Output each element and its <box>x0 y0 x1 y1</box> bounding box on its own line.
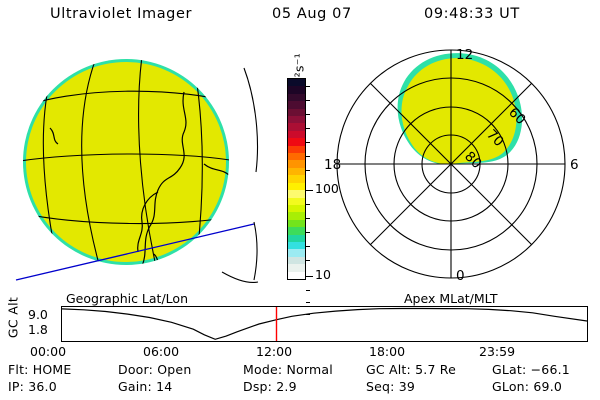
status-door: Door: Open <box>118 362 191 377</box>
strip-y-axis-label: GC Alt <box>6 291 21 345</box>
uvi-summary-page: Ultraviolet Imager 05 Aug 07 09:48:33 UT <box>0 0 600 400</box>
status-gcalt-value: 5.7 Re <box>415 362 456 377</box>
mlt-label-right: 6 <box>570 157 579 173</box>
colorbar-minor-tick-12 <box>306 290 310 291</box>
status-gain-value: 14 <box>156 379 172 394</box>
mlt-label-top: 12 <box>456 47 473 63</box>
status-dsp-label: Dsp: <box>243 379 272 394</box>
colorbar-band-26 <box>288 272 305 279</box>
colorbar-band-9 <box>288 146 305 153</box>
colorbar-band-8 <box>288 138 305 145</box>
colorbar-band-16 <box>288 198 305 205</box>
status-dsp-value: 2.9 <box>276 379 296 394</box>
colorbar-band-19 <box>288 220 305 227</box>
colorbar-band-13 <box>288 175 305 182</box>
colorbar-band-12 <box>288 168 305 175</box>
colorbar-major-tick-100 <box>306 190 313 191</box>
status-mode-value: Normal <box>286 362 332 377</box>
status-gcalt: GC Alt: 5.7 Re <box>366 362 456 377</box>
geographic-globe-plot[interactable] <box>8 44 260 292</box>
colorbar-band-18 <box>288 212 305 219</box>
dial-caption: Apex MLat/MLT <box>404 291 498 306</box>
x-tick-0: 00:00 <box>30 344 66 359</box>
status-glon-value: 69.0 <box>533 379 562 394</box>
mlt-label-left: 18 <box>324 157 341 173</box>
colorbar-band-15 <box>288 190 305 197</box>
altitude-trace-svg <box>62 307 587 341</box>
apex-dial-panel[interactable]: 12 6 0 18 60 70 80 <box>322 40 594 292</box>
colorbar-band-0 <box>288 79 305 86</box>
observation-time: 09:48:33 UT <box>424 6 520 22</box>
colorbar-minor-tick-7 <box>306 204 310 205</box>
aurora-oval <box>398 53 522 164</box>
colorbar-minor-tick-8 <box>306 218 310 219</box>
status-dsp: Dsp: 2.9 <box>243 379 297 394</box>
colorbar-band-5 <box>288 116 305 123</box>
colorbar-band-2 <box>288 94 305 101</box>
globe-caption: Geographic Lat/Lon <box>66 291 188 306</box>
observation-date: 05 Aug 07 <box>272 6 352 22</box>
x-tick-4: 23:59 <box>479 344 515 359</box>
colorbar-minor-tick-3 <box>306 128 310 129</box>
colorbar-band-20 <box>288 227 305 234</box>
colorbar-minor-tick-2 <box>306 114 310 115</box>
colorbar-band-1 <box>288 86 305 93</box>
x-tick-1: 06:00 <box>143 344 179 359</box>
colorbar-minor-tick-6 <box>306 170 310 171</box>
colorbar-band-3 <box>288 101 305 108</box>
colorbar-panel: photon cm⁻²s⁻¹ 100 10 <box>258 44 320 292</box>
x-tick-3: 18:00 <box>369 344 405 359</box>
disc-fill <box>26 62 226 262</box>
status-glat-value: −66.1 <box>531 362 570 377</box>
status-bar: Flt: HOME Door: Open Mode: Normal GC Alt… <box>0 362 600 400</box>
x-tick-2: 12:00 <box>256 344 292 359</box>
mlt-label-bottom: 0 <box>456 268 465 284</box>
colorbar-band-21 <box>288 235 305 242</box>
colorbar-band-4 <box>288 109 305 116</box>
status-seq-value: 39 <box>399 379 415 394</box>
apex-mlat-mlt-plot[interactable]: 12 6 0 18 60 70 80 <box>322 40 594 292</box>
status-mode-label: Mode: <box>243 362 282 377</box>
colorbar-band-23 <box>288 249 305 256</box>
altitude-plot-box[interactable] <box>61 306 588 342</box>
colorbar-minor-tick-1 <box>306 100 310 101</box>
status-glat: GLat: −66.1 <box>492 362 570 377</box>
colorbar-band-10 <box>288 153 305 160</box>
status-gain: Gain: 14 <box>118 379 172 394</box>
colorbar-gradient[interactable] <box>287 78 306 280</box>
colorbar-band-11 <box>288 160 305 167</box>
status-seq-label: Seq: <box>366 379 395 394</box>
status-door-value: Open <box>157 362 191 377</box>
colorbar-minor-tick-0 <box>306 86 310 87</box>
status-mode: Mode: Normal <box>243 362 333 377</box>
colorbar-band-24 <box>288 257 305 264</box>
colorbar-band-6 <box>288 123 305 130</box>
status-ip-value: 36.0 <box>28 379 57 394</box>
colorbar-minor-tick-9 <box>306 232 310 233</box>
status-glat-label: GLat: <box>492 362 526 377</box>
status-flt: Flt: HOME <box>8 362 72 377</box>
strip-y-tick-bottom: 1.8 <box>28 322 48 337</box>
colorbar-band-14 <box>288 183 305 190</box>
status-gcalt-label: GC Alt: <box>366 362 411 377</box>
status-gain-label: Gain: <box>118 379 152 394</box>
page-header: Ultraviolet Imager 05 Aug 07 09:48:33 UT <box>0 6 600 30</box>
status-glon: GLon: 69.0 <box>492 379 562 394</box>
colorbar-band-17 <box>288 205 305 212</box>
altitude-strip-panel[interactable]: GC Alt 9.0 1.8 Geographic Lat/Lon Apex M… <box>0 292 600 350</box>
status-door-label: Door: <box>118 362 153 377</box>
colorbar-band-22 <box>288 242 305 249</box>
strip-y-tick-top: 9.0 <box>28 307 48 322</box>
geographic-image-panel[interactable] <box>8 44 260 292</box>
status-ip-label: IP: <box>8 379 24 394</box>
status-seq: Seq: 39 <box>366 379 415 394</box>
colorbar-band-7 <box>288 131 305 138</box>
status-glon-label: GLon: <box>492 379 529 394</box>
colorbar-band-25 <box>288 264 305 271</box>
colorbar-minor-tick-5 <box>306 156 310 157</box>
status-ip: IP: 36.0 <box>8 379 57 394</box>
page-title: Ultraviolet Imager <box>50 6 192 22</box>
mlt-spokes <box>337 50 565 278</box>
colorbar-major-tick-10 <box>306 276 313 277</box>
status-flt-label: Flt: <box>8 362 29 377</box>
colorbar-minor-tick-4 <box>306 142 310 143</box>
colorbar-minor-tick-11 <box>306 260 310 261</box>
strip-x-axis: 00:00 06:00 12:00 18:00 23:59 <box>0 344 600 360</box>
status-flt-value: HOME <box>33 362 72 377</box>
altitude-trace <box>62 309 587 340</box>
colorbar-minor-tick-10 <box>306 246 310 247</box>
